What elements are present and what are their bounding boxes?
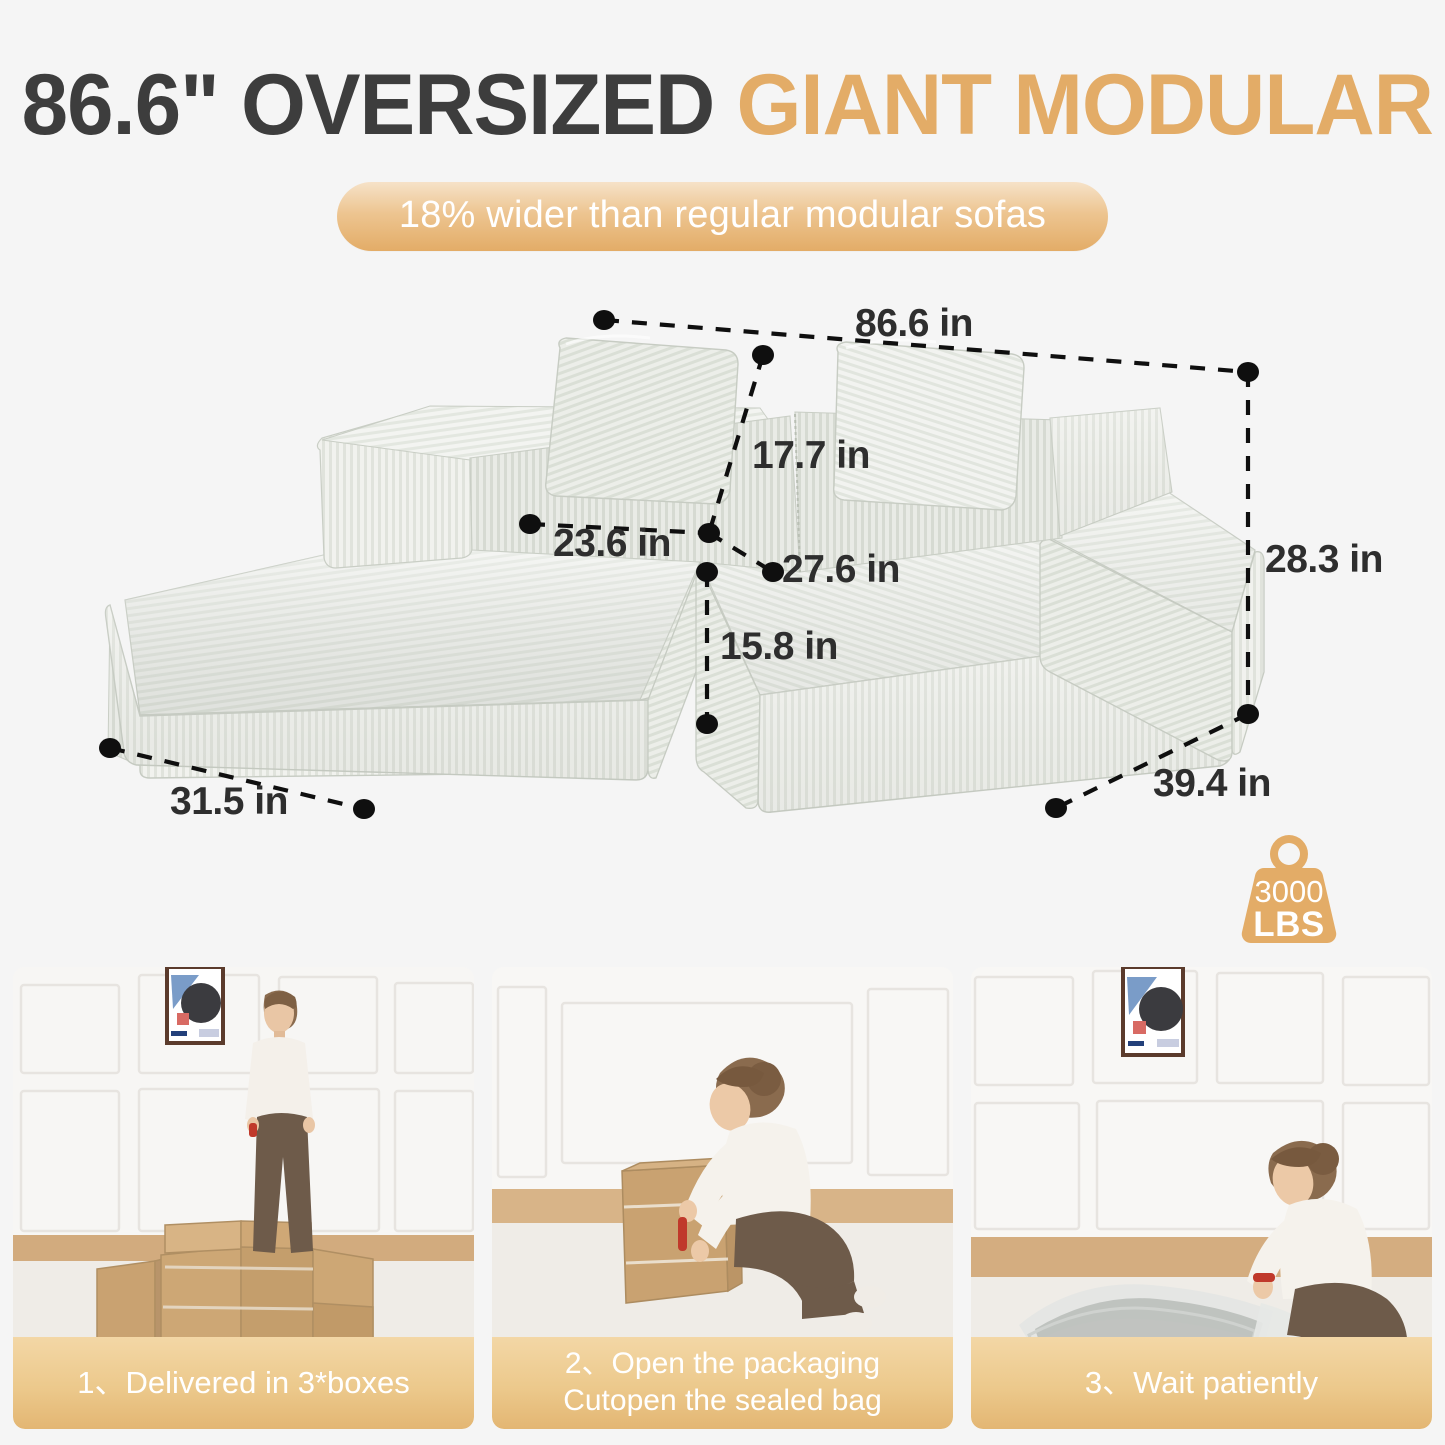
subtitle-pill: 18% wider than regular modular sofas [337,182,1108,251]
weight-badge-number: 3000 [1227,876,1351,907]
headline-dark-text: 86.6" OVERSIZED [22,57,737,153]
dimension-label-overall-width: 86.6 in [855,302,973,346]
subtitle-pill-wrapper: 18% wider than regular modular sofas [0,182,1445,251]
step-caption-2: 2、Open the packaging Cutopen the sealed … [492,1337,953,1429]
headline-accent-text: GIANT MODULAR [736,57,1432,153]
unboxing-steps: 1、Delivered in 3*boxes [13,967,1432,1429]
dimension-label-ottoman-width: 31.5 in [170,780,288,824]
step-caption-3: 3、Wait patiently [971,1337,1432,1429]
weight-badge-text: 3000 LBS [1227,876,1351,942]
dimension-label-seat-depth-left: 23.6 in [553,522,671,566]
dimension-label-overall-height: 28.3 in [1265,538,1383,582]
dimension-label-back-cushion-height: 17.7 in [752,434,870,478]
step-caption-2-line1: 2、Open the packaging [563,1346,882,1383]
dimension-label-overall-depth: 39.4 in [1153,762,1271,806]
dimension-label-seat-depth-right: 27.6 in [782,548,900,592]
step-panel-3[interactable]: 3、Wait patiently [971,967,1432,1429]
step-caption-2-line2: Cutopen the sealed bag [563,1383,882,1420]
infographic-stage: 86.6" OVERSIZED GIANT MODULAR 18% wider … [0,0,1445,1445]
step-caption-1: 1、Delivered in 3*boxes [13,1337,474,1429]
weight-badge-unit: LBS [1227,907,1351,942]
step-panel-2[interactable]: 2、Open the packaging Cutopen the sealed … [492,967,953,1429]
page-title: 86.6" OVERSIZED GIANT MODULAR [22,62,1424,148]
step-panel-1[interactable]: 1、Delivered in 3*boxes [13,967,474,1429]
weight-capacity-badge: 3000 LBS [1227,833,1351,945]
dimension-label-seat-height: 15.8 in [720,625,838,669]
